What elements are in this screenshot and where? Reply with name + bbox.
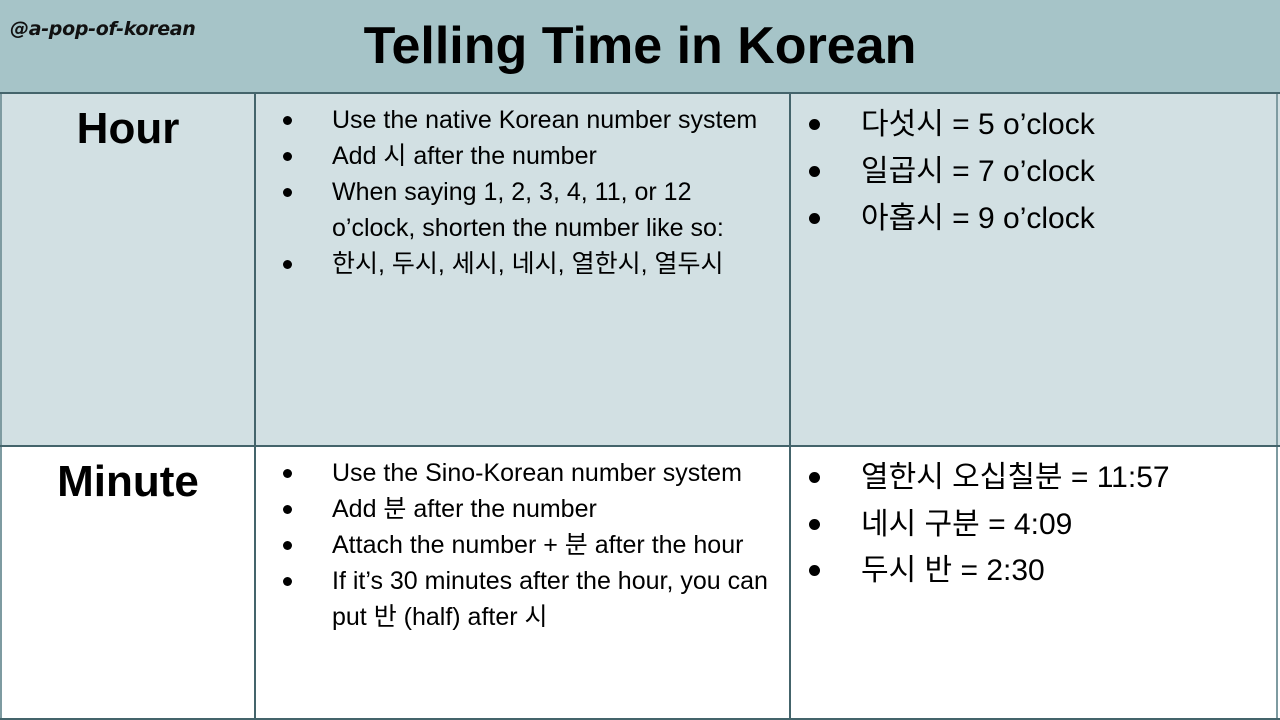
list-item: 두시 반 = 2:30 (803, 548, 1270, 595)
list-item: Use the Sino-Korean number system (274, 455, 781, 491)
page-title: Telling Time in Korean (0, 0, 1280, 92)
row-label-cell-hour: Hour (0, 94, 256, 445)
row-label-minute: Minute (57, 459, 199, 505)
list-item: 다섯시 = 5 o’clock (803, 102, 1270, 149)
list-item: 네시 구분 = 4:09 (803, 502, 1270, 549)
list-item: Add 분 after the number (274, 491, 781, 527)
rules-cell-hour: Use the native Korean number system Add … (256, 94, 791, 445)
list-item: When saying 1, 2, 3, 4, 11, or 12 o’cloc… (274, 174, 781, 246)
list-item: Use the native Korean number system (274, 102, 781, 138)
rules-list-minute: Use the Sino-Korean number system Add 분 … (274, 455, 781, 635)
examples-cell-minute: 열한시 오십칠분 = 11:57 네시 구분 = 4:09 두시 반 = 2:3… (791, 447, 1278, 718)
row-label-cell-minute: Minute (0, 447, 256, 718)
slide-header: @a-pop-of-korean Telling Time in Korean (0, 0, 1280, 92)
examples-list-minute: 열한시 오십칠분 = 11:57 네시 구분 = 4:09 두시 반 = 2:3… (803, 455, 1270, 595)
list-item: 한시, 두시, 세시, 네시, 열한시, 열두시 (274, 246, 781, 282)
list-item: 아홉시 = 9 o’clock (803, 196, 1270, 243)
slide-canvas: @a-pop-of-korean Telling Time in Korean … (0, 0, 1280, 720)
rules-cell-minute: Use the Sino-Korean number system Add 분 … (256, 447, 791, 718)
table-row-hour: Hour Use the native Korean number system… (0, 94, 1280, 447)
list-item: Add 시 after the number (274, 138, 781, 174)
table-row-minute: Minute Use the Sino-Korean number system… (0, 447, 1280, 718)
examples-cell-hour: 다섯시 = 5 o’clock 일곱시 = 7 o’clock 아홉시 = 9 … (791, 94, 1278, 445)
rules-list-hour: Use the native Korean number system Add … (274, 102, 781, 282)
list-item: 일곱시 = 7 o’clock (803, 149, 1270, 196)
list-item: If it’s 30 minutes after the hour, you c… (274, 563, 781, 635)
row-label-hour: Hour (77, 106, 180, 152)
list-item: Attach the number + 분 after the hour (274, 527, 781, 563)
examples-list-hour: 다섯시 = 5 o’clock 일곱시 = 7 o’clock 아홉시 = 9 … (803, 102, 1270, 242)
list-item: 열한시 오십칠분 = 11:57 (803, 455, 1270, 502)
time-rules-table: Hour Use the native Korean number system… (0, 92, 1280, 720)
